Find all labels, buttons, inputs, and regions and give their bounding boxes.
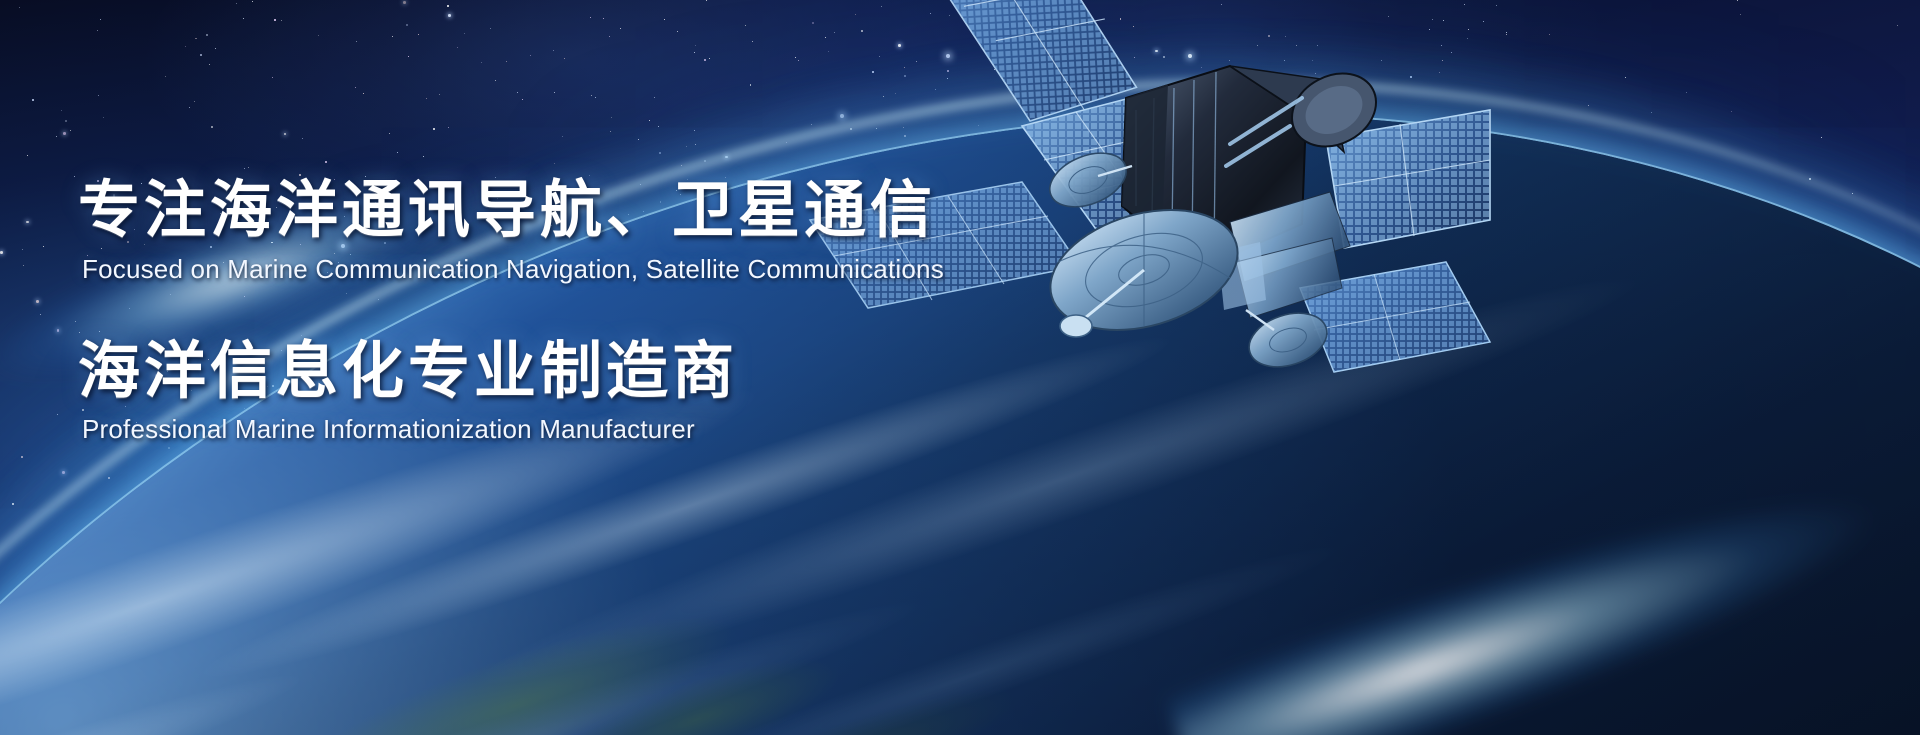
hero-banner: 专注海洋通讯导航、卫星通信 Focused on Marine Communic… (0, 0, 1920, 735)
headline-primary: 专注海洋通讯导航、卫星通信 (78, 178, 1178, 244)
message-block-1: 专注海洋通讯导航、卫星通信 Focused on Marine Communic… (78, 178, 1178, 285)
message-block-2: 海洋信息化专业制造商 Professional Marine Informati… (78, 339, 1178, 446)
banner-copy: 专注海洋通讯导航、卫星通信 Focused on Marine Communic… (78, 178, 1178, 445)
subheadline-primary: Focused on Marine Communication Navigati… (82, 254, 1178, 285)
headline-secondary: 海洋信息化专业制造商 (78, 339, 1178, 405)
subheadline-secondary: Professional Marine Informationization M… (82, 414, 1178, 445)
